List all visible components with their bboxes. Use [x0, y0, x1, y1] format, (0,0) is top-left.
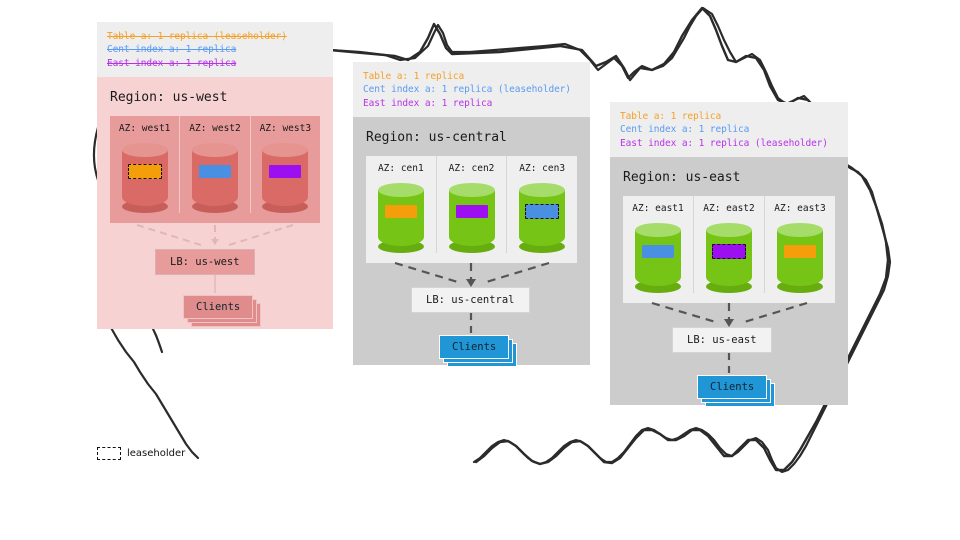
replica-chip-east: [456, 205, 488, 218]
region-title-us-west: Region: us-west: [97, 77, 333, 116]
node-cylinder-cen1[interactable]: [378, 183, 424, 253]
node-cylinder-cen2[interactable]: [449, 183, 495, 253]
replica-chip-cent-leaseholder: [525, 204, 559, 219]
region-body-us-west: Region: us-west AZ: west1 AZ: west2: [97, 77, 333, 329]
region-title-us-east: Region: us-east: [610, 157, 848, 196]
replica-chip-table: [784, 245, 816, 258]
replica-chip-table-leaseholder: [128, 164, 162, 179]
replica-legend-us-west: Table a: 1 replica (leaseholder) Cent in…: [97, 22, 333, 77]
replica-chip-cent: [642, 245, 674, 258]
az-cell-west2[interactable]: AZ: west2: [179, 116, 249, 213]
az-cell-west3[interactable]: AZ: west3: [250, 116, 320, 213]
replica-chip-table: [385, 205, 417, 218]
az-cell-east1[interactable]: AZ: east1: [623, 196, 693, 293]
cylinder-body: [192, 150, 238, 206]
node-cylinder-west1[interactable]: [122, 143, 168, 213]
legend-line-east: East index a: 1 replica (leaseholder): [620, 137, 838, 150]
az-group-us-west: AZ: west1 AZ: west2: [110, 116, 320, 223]
load-balancer-us-central[interactable]: LB: us-central: [411, 287, 530, 313]
clients-stack-us-central[interactable]: Clients: [439, 335, 509, 359]
legend-line-table: Table a: 1 replica (leaseholder): [107, 30, 323, 43]
clients-stack-us-east[interactable]: Clients: [697, 375, 767, 399]
dashed-box-icon: [97, 447, 121, 460]
replica-legend-us-central: Table a: 1 replica Cent index a: 1 repli…: [353, 62, 590, 117]
replica-chip-east-leaseholder: [712, 244, 746, 259]
clients-stack-us-west[interactable]: Clients: [183, 295, 253, 319]
legend-line-cent: Cent index a: 1 replica: [620, 123, 838, 136]
az-cell-east3[interactable]: AZ: east3: [764, 196, 835, 293]
cylinder-body: [449, 190, 495, 246]
diagram-canvas: Table a: 1 replica (leaseholder) Cent in…: [0, 0, 960, 540]
az-label-east3: AZ: east3: [765, 203, 835, 214]
region-card-us-east[interactable]: Table a: 1 replica Cent index a: 1 repli…: [610, 102, 848, 405]
clients-label-us-west: Clients: [196, 301, 240, 313]
az-label-west1: AZ: west1: [110, 123, 179, 134]
replica-chip-cent: [199, 165, 231, 178]
cylinder-body: [378, 190, 424, 246]
az-label-cen2: AZ: cen2: [437, 163, 507, 174]
region-body-us-central: Region: us-central AZ: cen1 AZ: cen2: [353, 117, 590, 365]
load-balancer-us-east[interactable]: LB: us-east: [672, 327, 772, 353]
region-card-us-central[interactable]: Table a: 1 replica Cent index a: 1 repli…: [353, 62, 590, 365]
node-cylinder-east1[interactable]: [635, 223, 681, 293]
cylinder-body: [635, 230, 681, 286]
az-cell-cen2[interactable]: AZ: cen2: [436, 156, 507, 253]
replica-chip-east: [269, 165, 301, 178]
az-cell-cen3[interactable]: AZ: cen3: [506, 156, 577, 253]
replica-legend-us-east: Table a: 1 replica Cent index a: 1 repli…: [610, 102, 848, 157]
node-cylinder-east2[interactable]: [706, 223, 752, 293]
az-label-east1: AZ: east1: [623, 203, 693, 214]
az-label-west2: AZ: west2: [180, 123, 249, 134]
cylinder-body: [777, 230, 823, 286]
az-label-east2: AZ: east2: [694, 203, 764, 214]
az-label-west3: AZ: west3: [251, 123, 320, 134]
az-label-cen3: AZ: cen3: [507, 163, 577, 174]
legend-line-table: Table a: 1 replica: [620, 110, 838, 123]
legend-line-cent: Cent index a: 1 replica (leaseholder): [363, 83, 580, 96]
region-body-us-east: Region: us-east AZ: east1 AZ: east2: [610, 157, 848, 405]
node-cylinder-west2[interactable]: [192, 143, 238, 213]
az-group-us-central: AZ: cen1 AZ: cen2: [366, 156, 577, 263]
legend-line-east: East index a: 1 replica: [107, 57, 323, 70]
node-cylinder-west3[interactable]: [262, 143, 308, 213]
cylinder-top: [449, 183, 495, 197]
legend-line-east: East index a: 1 replica: [363, 97, 580, 110]
clients-label-us-central: Clients: [452, 341, 496, 353]
az-cell-east2[interactable]: AZ: east2: [693, 196, 764, 293]
az-cell-west1[interactable]: AZ: west1: [110, 116, 179, 213]
legend-key-label: leaseholder: [127, 448, 185, 459]
region-card-us-west[interactable]: Table a: 1 replica (leaseholder) Cent in…: [97, 22, 333, 329]
az-group-us-east: AZ: east1 AZ: east2: [623, 196, 835, 303]
clients-label-us-east: Clients: [710, 381, 754, 393]
load-balancer-us-west[interactable]: LB: us-west: [155, 249, 255, 275]
legend-line-table: Table a: 1 replica: [363, 70, 580, 83]
az-label-cen1: AZ: cen1: [366, 163, 436, 174]
cylinder-body: [262, 150, 308, 206]
az-cell-cen1[interactable]: AZ: cen1: [366, 156, 436, 253]
legend-key: leaseholder: [97, 447, 185, 460]
legend-line-cent: Cent index a: 1 replica: [107, 43, 323, 56]
region-title-us-central: Region: us-central: [353, 117, 590, 156]
node-cylinder-east3[interactable]: [777, 223, 823, 293]
node-cylinder-cen3[interactable]: [519, 183, 565, 253]
